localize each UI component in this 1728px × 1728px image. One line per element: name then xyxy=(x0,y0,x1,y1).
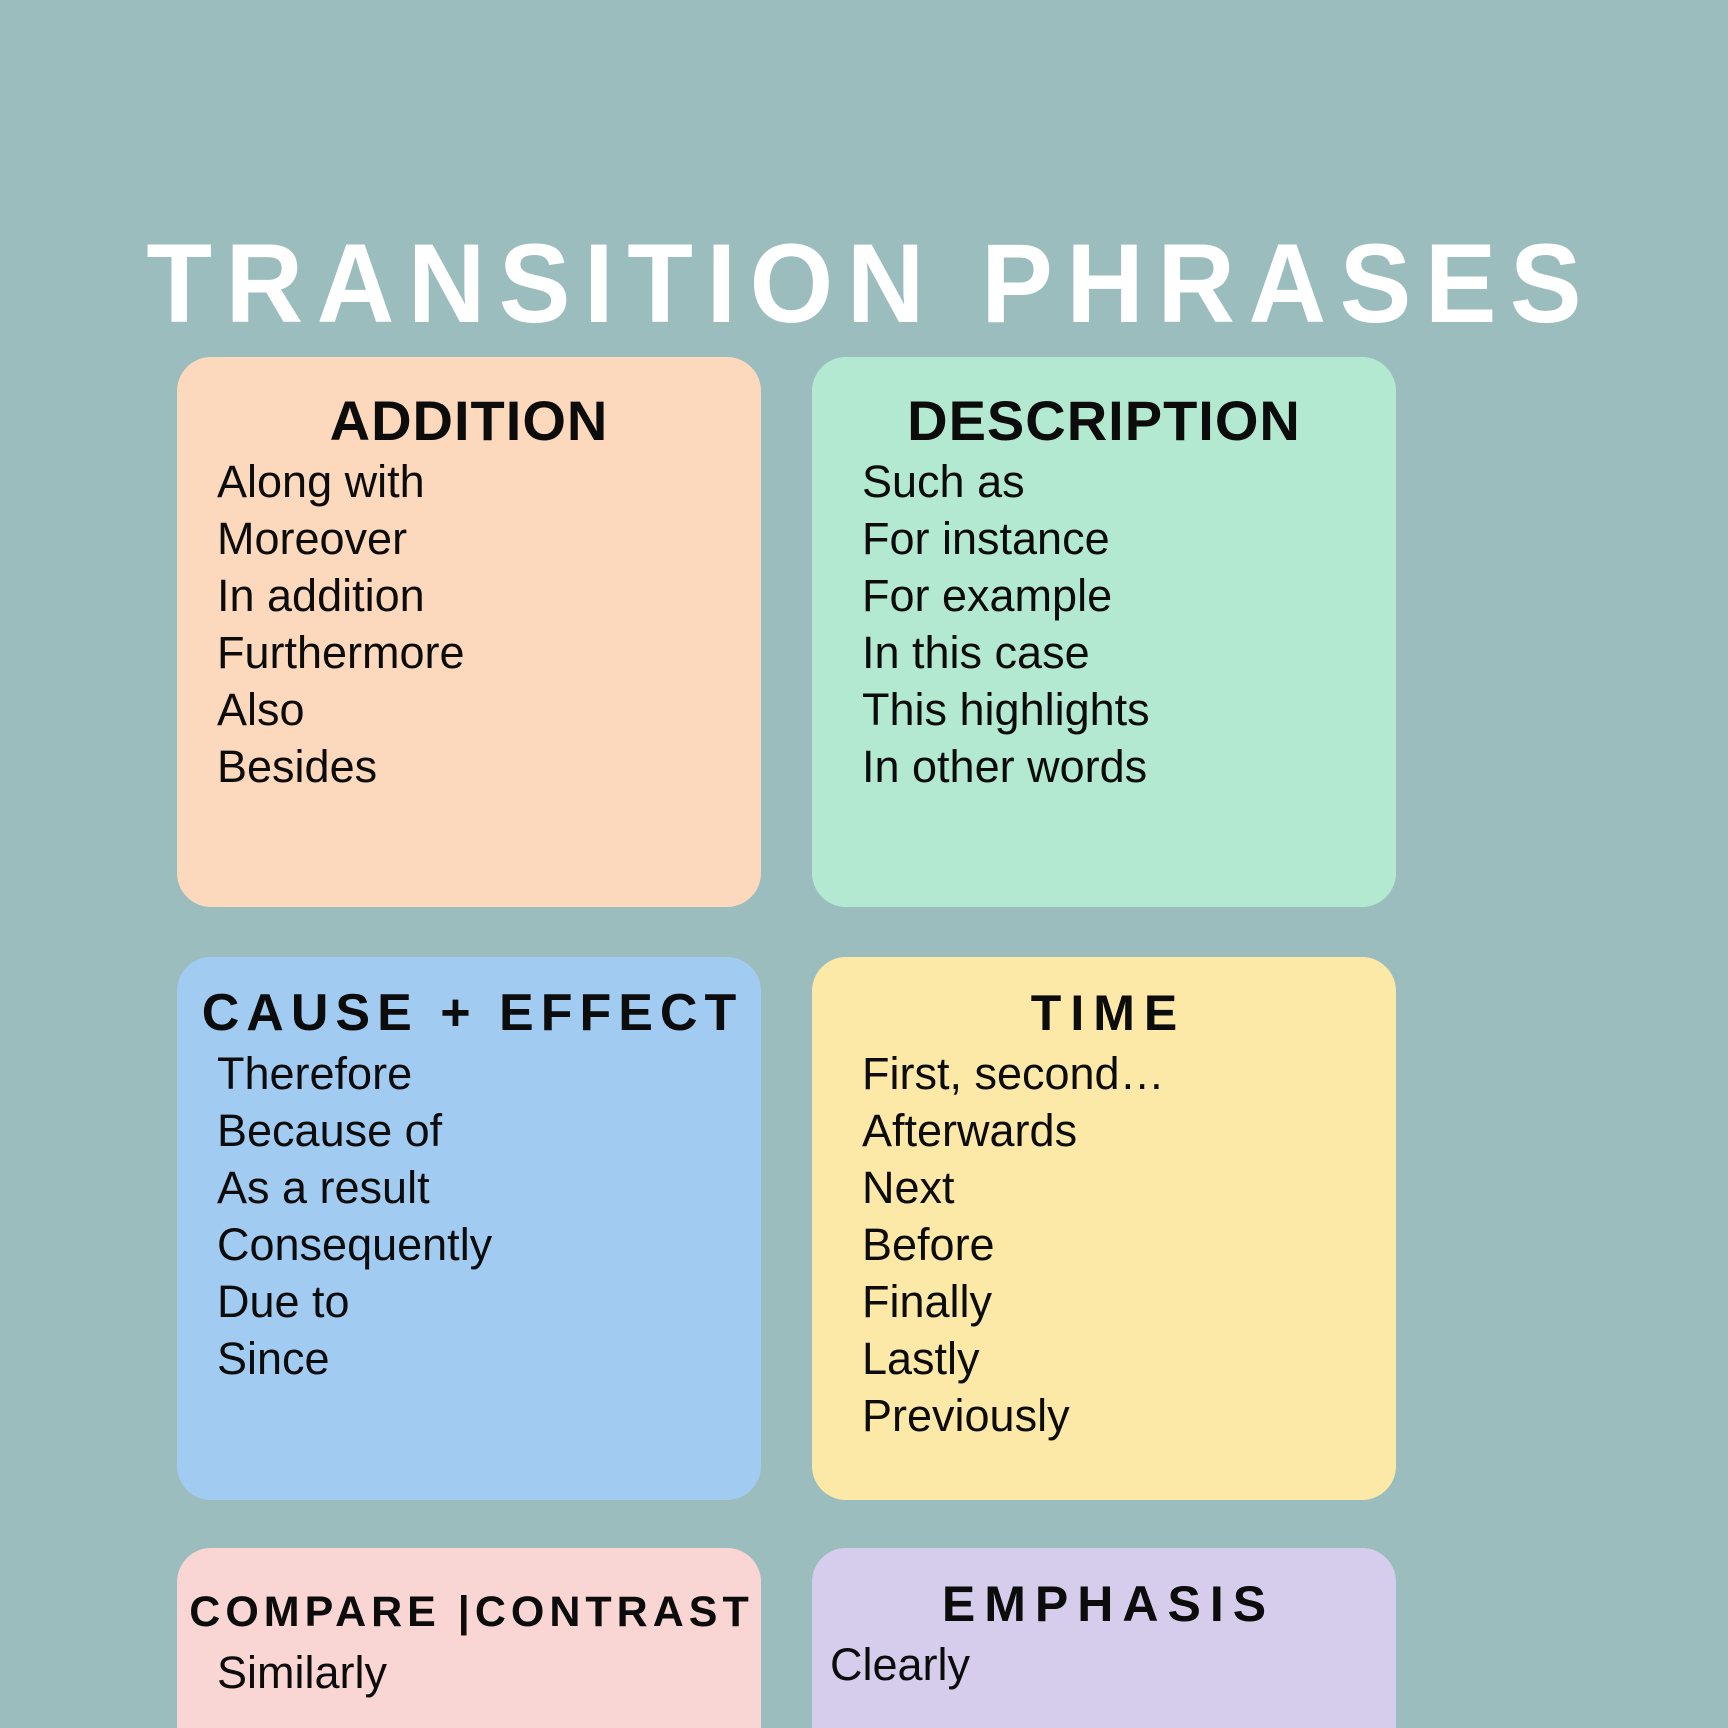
list-item: For example xyxy=(862,567,1396,624)
card-addition: ADDITION Along with Moreover In addition… xyxy=(177,357,761,907)
card-cause-effect: CAUSE + EFFECT Therefore Because of As a… xyxy=(177,957,761,1500)
card-time-body: TIME First, second… Afterwards Next Befo… xyxy=(812,957,1396,1444)
list-item: In other words xyxy=(862,738,1396,795)
list-item: Because of xyxy=(217,1102,761,1159)
list-item: Along with xyxy=(217,453,761,510)
card-description-body: DESCRIPTION Such as For instance For exa… xyxy=(812,357,1396,795)
card-compare-contrast-title: COMPARE |CONTRAST xyxy=(177,1566,761,1644)
list-item: Due to xyxy=(217,1273,761,1330)
card-description-list: Such as For instance For example In this… xyxy=(812,453,1396,795)
card-addition-body: ADDITION Along with Moreover In addition… xyxy=(177,357,761,795)
list-item: Also xyxy=(217,681,761,738)
list-item: Next xyxy=(862,1159,1396,1216)
list-item: In addition xyxy=(217,567,761,624)
card-time-list: First, second… Afterwards Next Before Fi… xyxy=(812,1045,1396,1444)
card-addition-title: ADDITION xyxy=(177,375,761,453)
card-time: TIME First, second… Afterwards Next Befo… xyxy=(812,957,1396,1500)
list-item: Moreover xyxy=(217,510,761,567)
list-item: Similarly xyxy=(217,1644,761,1701)
list-item: Since xyxy=(217,1330,761,1387)
list-item: Besides xyxy=(217,738,761,795)
card-emphasis-list: Clearly xyxy=(812,1636,1396,1693)
card-time-title: TIME xyxy=(812,975,1396,1045)
list-item: First, second… xyxy=(862,1045,1396,1102)
card-emphasis: EMPHASIS Clearly xyxy=(812,1548,1396,1728)
card-cause-effect-body: CAUSE + EFFECT Therefore Because of As a… xyxy=(177,957,761,1387)
list-item: In this case xyxy=(862,624,1396,681)
card-compare-contrast-list: Similarly xyxy=(177,1644,761,1701)
list-item: Consequently xyxy=(217,1216,761,1273)
card-description-title: DESCRIPTION xyxy=(812,375,1396,453)
list-item: Therefore xyxy=(217,1045,761,1102)
list-item: Before xyxy=(862,1216,1396,1273)
list-item: As a result xyxy=(217,1159,761,1216)
list-item: Finally xyxy=(862,1273,1396,1330)
list-item: Previously xyxy=(862,1387,1396,1444)
list-item: For instance xyxy=(862,510,1396,567)
list-item: Lastly xyxy=(862,1330,1396,1387)
list-item: This highlights xyxy=(862,681,1396,738)
list-item: Clearly xyxy=(830,1636,1396,1693)
card-compare-contrast-body: COMPARE |CONTRAST Similarly xyxy=(177,1548,761,1701)
card-emphasis-body: EMPHASIS Clearly xyxy=(812,1548,1396,1693)
list-item: Afterwards xyxy=(862,1102,1396,1159)
card-cause-effect-title: CAUSE + EFFECT xyxy=(177,975,761,1045)
page-title: TRANSITION PHRASES xyxy=(35,225,1694,343)
card-addition-list: Along with Moreover In addition Furtherm… xyxy=(177,453,761,795)
card-emphasis-title: EMPHASIS xyxy=(812,1566,1396,1636)
list-item: Such as xyxy=(862,453,1396,510)
poster-canvas: TRANSITION PHRASES ADDITION Along with M… xyxy=(0,0,1728,1728)
card-description: DESCRIPTION Such as For instance For exa… xyxy=(812,357,1396,907)
list-item: Furthermore xyxy=(217,624,761,681)
card-cause-effect-list: Therefore Because of As a result Consequ… xyxy=(177,1045,761,1387)
card-compare-contrast: COMPARE |CONTRAST Similarly xyxy=(177,1548,761,1728)
